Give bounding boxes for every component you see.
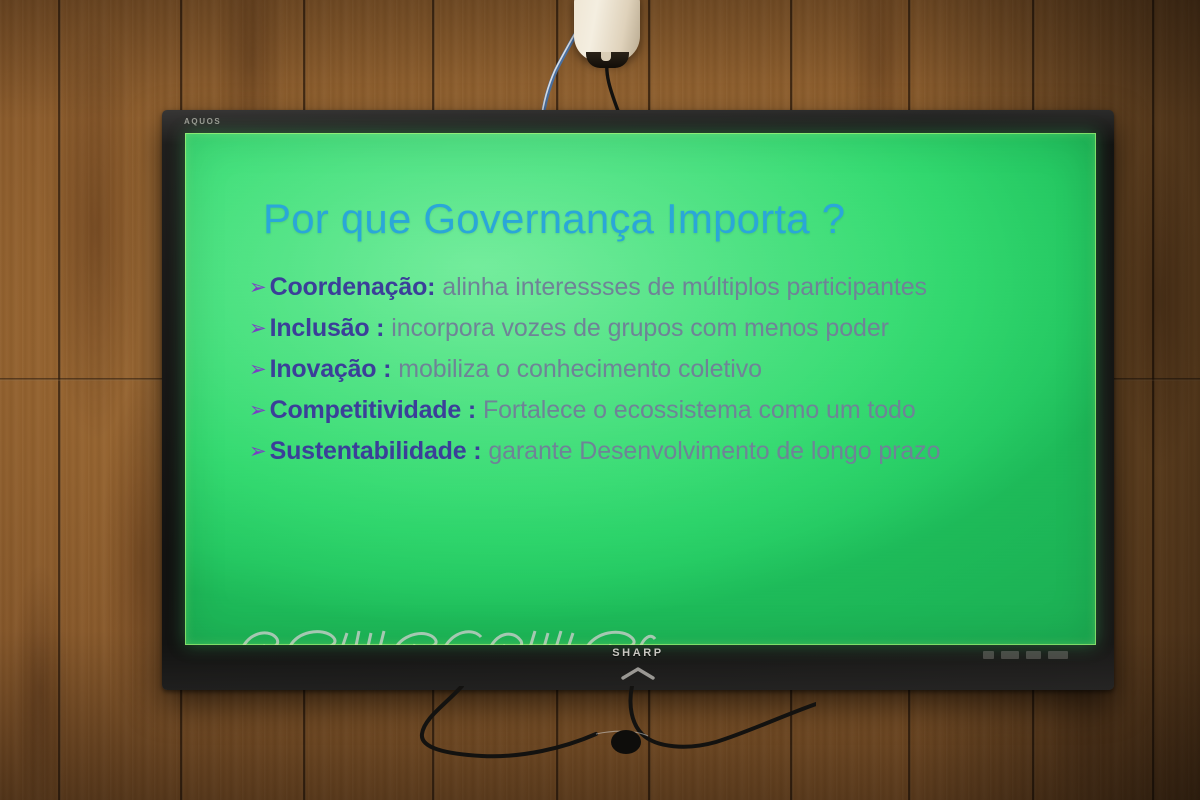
screen-glass-reflection [237,625,657,645]
list-item: ➢ Inclusão : incorpora vozes de grupos c… [249,314,1050,342]
room-scene: AQUOS Por que Governança Importa ? ➢ Coo… [0,0,1200,800]
badge-icon [1001,651,1019,659]
bullet-arrow-icon: ➢ [249,399,267,423]
list-item: ➢ Coordenação: alinha interessses de múl… [249,273,1050,301]
bullet-term: Sustentabilidade : [270,437,482,465]
bullet-description: garante Desenvolvimento de longo prazo [488,437,940,465]
list-item: ➢ Competitividade : Fortalece o ecossist… [249,396,1050,424]
badge-icon [1048,651,1068,659]
fixture-notch [601,52,611,61]
badge-icon [983,651,994,659]
bullet-term: Inovação : [270,355,392,383]
bullet-description: alinha interessses de múltiplos particip… [442,273,927,301]
bullet-arrow-icon: ➢ [249,440,267,464]
presentation-slide: Por que Governança Importa ? ➢ Coordenaç… [185,133,1096,645]
wall-mounted-television[interactable]: AQUOS Por que Governança Importa ? ➢ Coo… [162,110,1114,690]
sharp-logo: SHARP [162,647,1114,659]
slide-bullet-list: ➢ Coordenação: alinha interessses de múl… [249,273,1050,465]
tv-spec-badges [983,651,1068,659]
list-item: ➢ Inovação : mobiliza o conhecimento col… [249,355,1050,383]
bullet-description: mobiliza o conhecimento coletivo [398,355,762,383]
wall-plank-seam [58,0,61,800]
bullet-description: incorpora vozes de grupos com menos pode… [391,314,889,342]
bullet-arrow-icon: ➢ [249,276,267,300]
list-item: ➢ Sustentabilidade : garante Desenvolvim… [249,437,1050,465]
wall-plank-seam [1152,0,1155,800]
badge-icon [1026,651,1041,659]
aquos-logo: AQUOS [184,117,221,126]
bullet-term: Inclusão : [270,314,385,342]
bullet-term: Competitividade : [270,396,476,424]
bullet-arrow-icon: ➢ [249,358,267,382]
bullet-arrow-icon: ➢ [249,317,267,341]
slide-title: Por que Governança Importa ? [263,195,1050,243]
bullet-term: Coordenação: [270,273,436,301]
bullet-description: Fortalece o ecossistema como um todo [483,396,916,424]
chevron-up-icon [620,666,656,680]
tv-screen[interactable]: Por que Governança Importa ? ➢ Coordenaç… [185,133,1096,645]
